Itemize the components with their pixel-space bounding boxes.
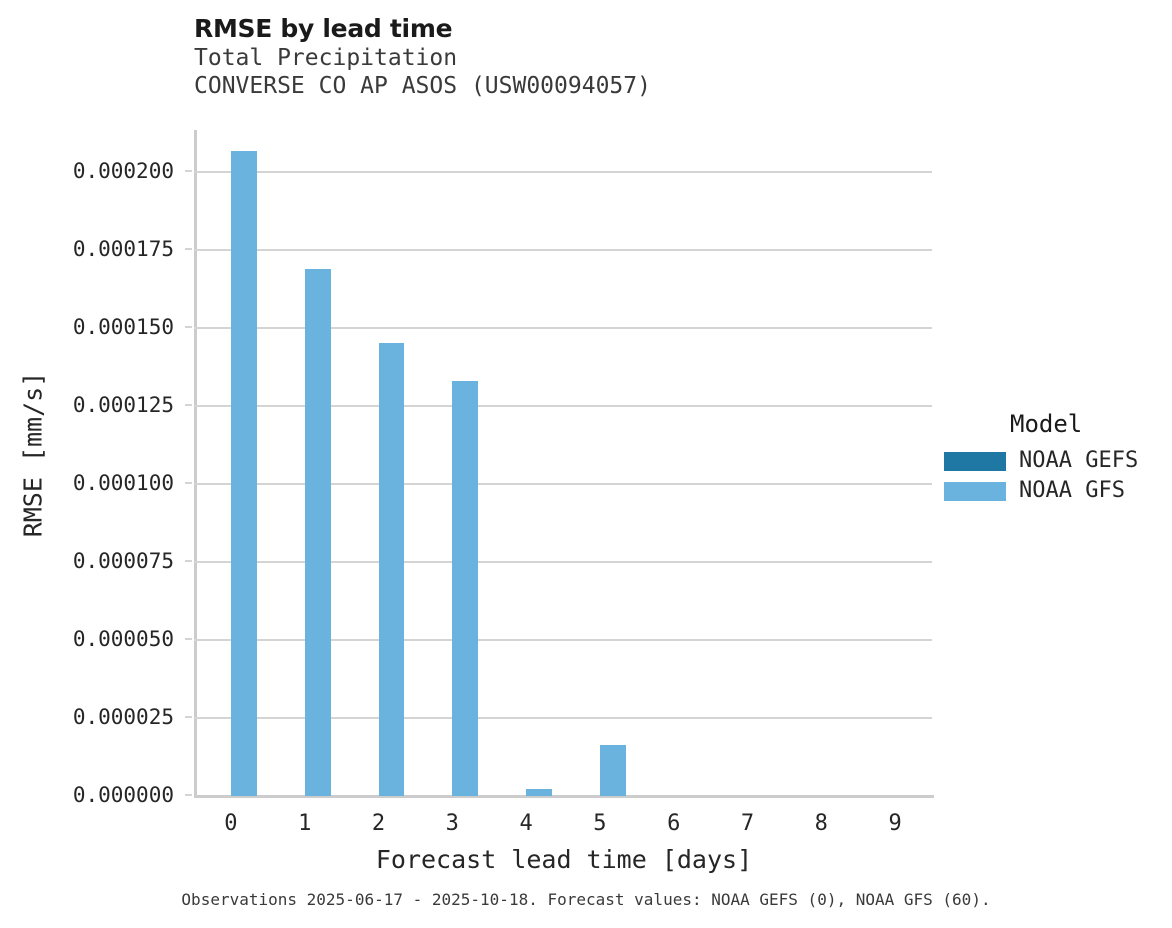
footnote: Observations 2025-06-17 - 2025-10-18. Fo… [0,890,1172,909]
y-axis-title: RMSE [mm/s] [19,325,48,585]
subtitle-station: CONVERSE CO AP ASOS (USW00094057) [194,72,954,100]
y-tick-mark [185,560,192,562]
bar [452,381,478,796]
y-tick-mark [185,482,192,484]
x-tick-label: 8 [801,812,841,836]
y-tick-mark [185,404,192,406]
bar [379,343,405,796]
x-tick-label: 1 [285,812,325,836]
x-tick-label: 6 [654,812,694,836]
page-title: RMSE by lead time [194,14,954,44]
legend-item[interactable]: NOAA GFS [944,476,1164,506]
y-tick-label: 0.000175 [0,239,174,260]
y-tick-mark [185,716,192,718]
bar [526,789,552,796]
x-tick-label: 5 [580,812,620,836]
x-tick-label: 3 [432,812,472,836]
legend-swatch-icon [944,482,1006,501]
plot-area [194,130,932,796]
x-tick-label: 9 [875,812,915,836]
bar [231,151,257,796]
x-tick-label: 7 [728,812,768,836]
x-tick-label: 0 [211,812,251,836]
x-tick-label: 4 [506,812,546,836]
legend-swatch-icon [944,452,1006,471]
y-tick-mark [185,170,192,172]
legend-item-label: NOAA GEFS [1019,449,1138,473]
x-axis-title: Forecast lead time [days] [194,845,934,874]
legend-item-label: NOAA GFS [1019,479,1125,503]
subtitle-variable: Total Precipitation [194,44,954,72]
bar [600,745,626,796]
legend-entries: NOAA GEFSNOAA GFS [944,446,1164,506]
bar [305,269,331,796]
x-tick-label: 2 [359,812,399,836]
y-tick-label: 0.000200 [0,161,174,182]
gridline [194,171,932,173]
y-tick-label: 0.000000 [0,785,174,806]
y-tick-mark [185,248,192,250]
title-block: RMSE by lead time Total Precipitation CO… [194,14,954,100]
y-tick-label: 0.000025 [0,707,174,728]
y-tick-label: 0.000050 [0,629,174,650]
legend: Model NOAA GEFSNOAA GFS [944,410,1164,506]
y-tick-mark [185,638,192,640]
legend-item[interactable]: NOAA GEFS [944,446,1164,476]
legend-title: Model [1010,410,1164,438]
y-tick-mark [185,326,192,328]
y-tick-mark [185,794,192,796]
gridline [194,249,932,251]
